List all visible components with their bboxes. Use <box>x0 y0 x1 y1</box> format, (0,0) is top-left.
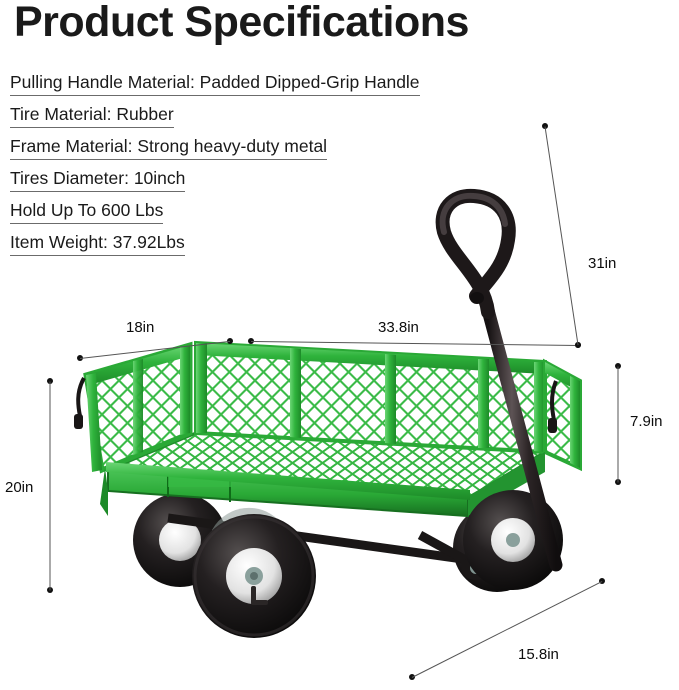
dim-label-31in: 31in <box>588 255 616 272</box>
dim-label-158in: 15.8in <box>518 646 559 663</box>
dim-line-79in <box>618 367 619 483</box>
product-specification-page: Product Specifications Pulling Handle Ma… <box>0 0 679 690</box>
dim-label-79in: 7.9in <box>630 413 663 430</box>
spec-item-pulling-handle-material: Pulling Handle Material: Padded Dipped-G… <box>10 72 420 96</box>
dim-label-18in: 18in <box>126 319 154 336</box>
panel-latch-left <box>74 378 84 429</box>
dim-label-20in: 20in <box>5 479 33 496</box>
dim-label-338in: 33.8in <box>378 319 419 336</box>
wheel-front-near <box>192 514 316 638</box>
dim-line-20in <box>50 382 51 591</box>
product-illustration <box>0 100 679 670</box>
page-title: Product Specifications <box>14 0 469 47</box>
